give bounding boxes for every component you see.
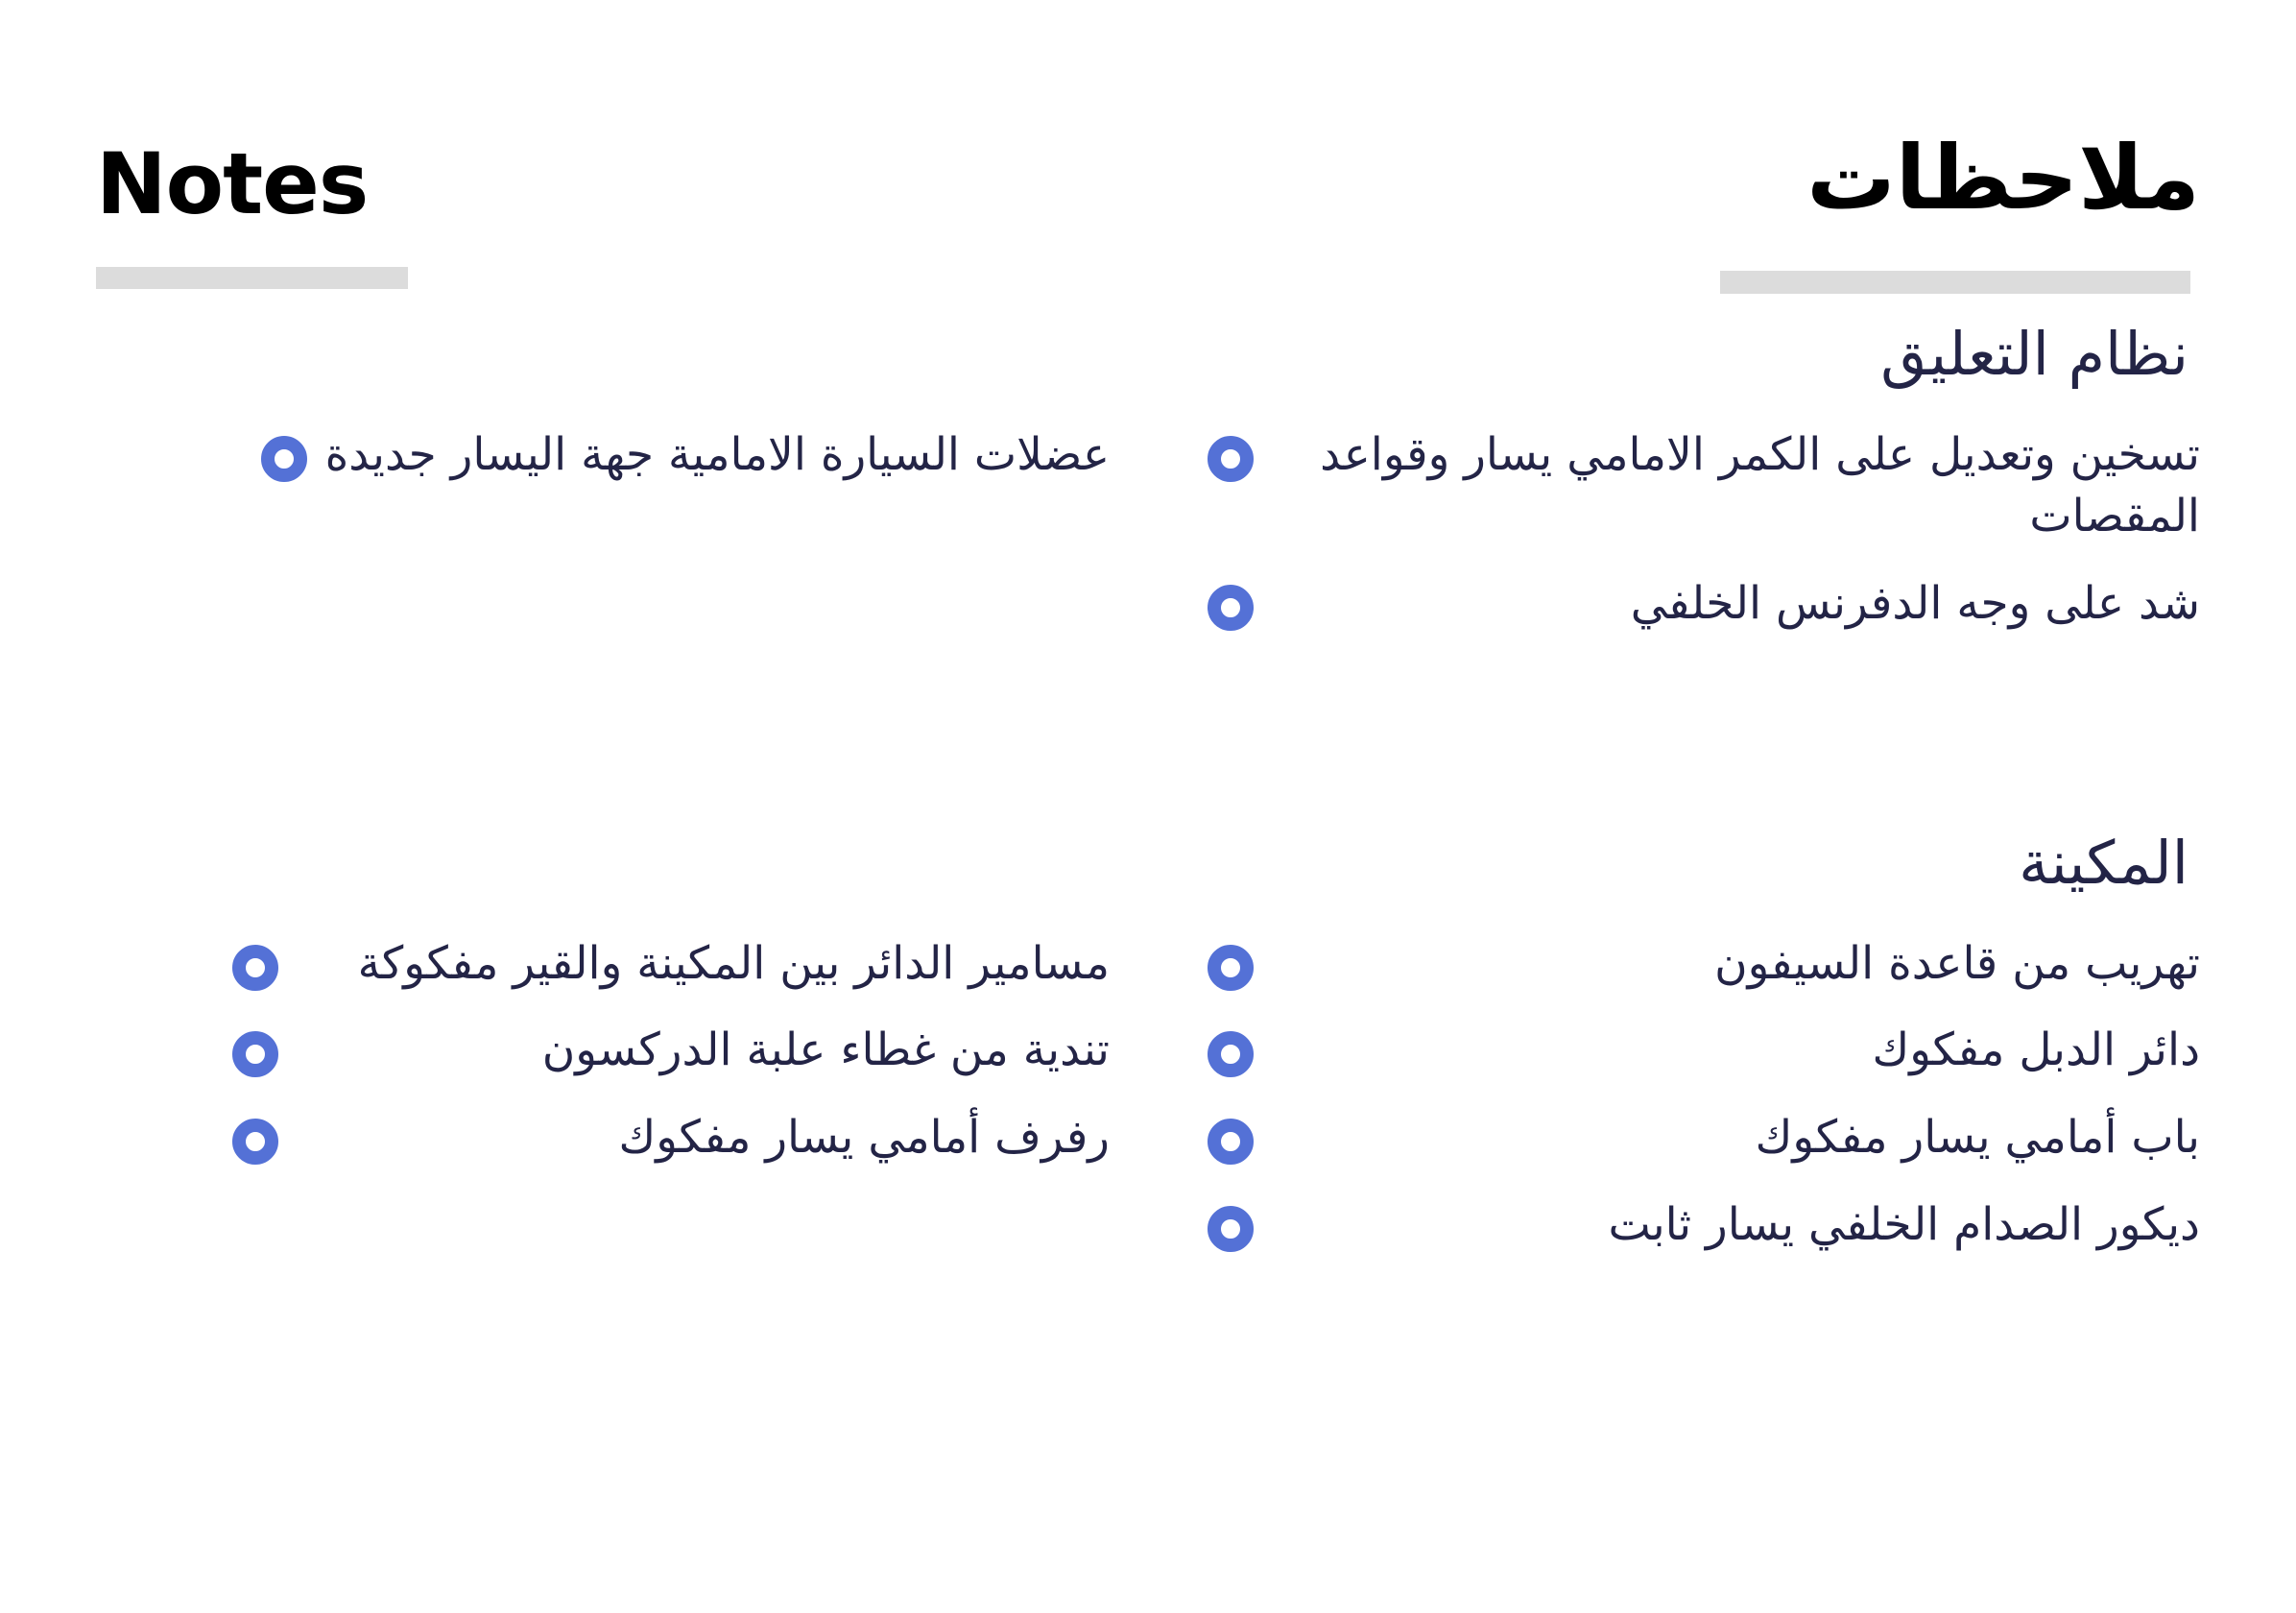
section-suspension: نظام التعليق تسخين وتعديل على الكمر الام… [96,317,2200,661]
section-engine-left-column: مسامير الدائر بين المكينة والقير مفكوكة … [96,933,1148,1195]
ring-bullet-icon [1208,945,1254,991]
list-item-label: رفرف أمامي يسار مفكوك [278,1107,1110,1169]
ring-bullet-icon [232,1031,278,1077]
ring-bullet-icon [1208,585,1254,631]
list-item[interactable]: مسامير الدائر بين المكينة والقير مفكوكة [211,933,1110,996]
list-item-label: شد على وجه الدفرنس الخلفي [1254,573,2200,636]
notes-slide: Notes ملاحظات نظام التعليق تسخين وتعديل … [0,0,2296,1613]
ring-bullet-icon [1208,436,1254,482]
list-item-label: تسخين وتعديل على الكمر الامامي يسار وقوا… [1254,424,2200,549]
ring-bullet-icon [232,945,278,991]
page-title-arabic: ملاحظات [1806,134,2200,223]
ring-bullet-icon [1208,1119,1254,1165]
list-item[interactable]: تسخين وتعديل على الكمر الامامي يسار وقوا… [1186,424,2200,549]
list-item[interactable]: تندية من غطاء علبة الدركسون [211,1020,1110,1082]
ring-bullet-icon [261,436,307,482]
list-item-label: دائر الدبل مفكوك [1254,1020,2200,1082]
page-title-english-underline [96,267,408,289]
list-item[interactable]: تهريب من قاعدة السيفون [1186,933,2200,996]
list-item[interactable]: شد على وجه الدفرنس الخلفي [1186,573,2200,636]
list-item[interactable]: ديكور الصدام الخلفي يسار ثابت [1186,1194,2200,1257]
ring-bullet-icon [1208,1206,1254,1252]
list-item-label: باب أمامي يسار مفكوك [1254,1107,2200,1169]
list-item[interactable]: عضلات السيارة الامامية جهة اليسار جديدة [240,424,1110,487]
ring-bullet-icon [232,1119,278,1165]
section-suspension-left-column: عضلات السيارة الامامية جهة اليسار جديدة [96,424,1148,512]
list-item-label: عضلات السيارة الامامية جهة اليسار جديدة [307,424,1110,487]
ring-bullet-icon [1208,1031,1254,1077]
list-item[interactable]: رفرف أمامي يسار مفكوك [211,1107,1110,1169]
list-item-label: تهريب من قاعدة السيفون [1254,933,2200,996]
section-heading-suspension: نظام التعليق [96,317,2200,392]
list-item-label: مسامير الدائر بين المكينة والقير مفكوكة [278,933,1110,996]
section-heading-engine: المكينة [96,826,2200,901]
section-engine: المكينة تهريب من قاعدة السيفون دائر الدب… [96,826,2200,1282]
list-item[interactable]: دائر الدبل مفكوك [1186,1020,2200,1082]
section-suspension-columns: تسخين وتعديل على الكمر الامامي يسار وقوا… [96,424,2200,662]
list-item[interactable]: باب أمامي يسار مفكوك [1186,1107,2200,1169]
section-suspension-right-column: تسخين وتعديل على الكمر الامامي يسار وقوا… [1148,424,2200,662]
list-item-label: ديكور الصدام الخلفي يسار ثابت [1254,1194,2200,1257]
section-engine-right-column: تهريب من قاعدة السيفون دائر الدبل مفكوك … [1148,933,2200,1282]
page-title-english: Notes [96,142,368,227]
list-item-label: تندية من غطاء علبة الدركسون [278,1020,1110,1082]
page-title-arabic-underline [1720,271,2190,294]
section-engine-columns: تهريب من قاعدة السيفون دائر الدبل مفكوك … [96,933,2200,1282]
